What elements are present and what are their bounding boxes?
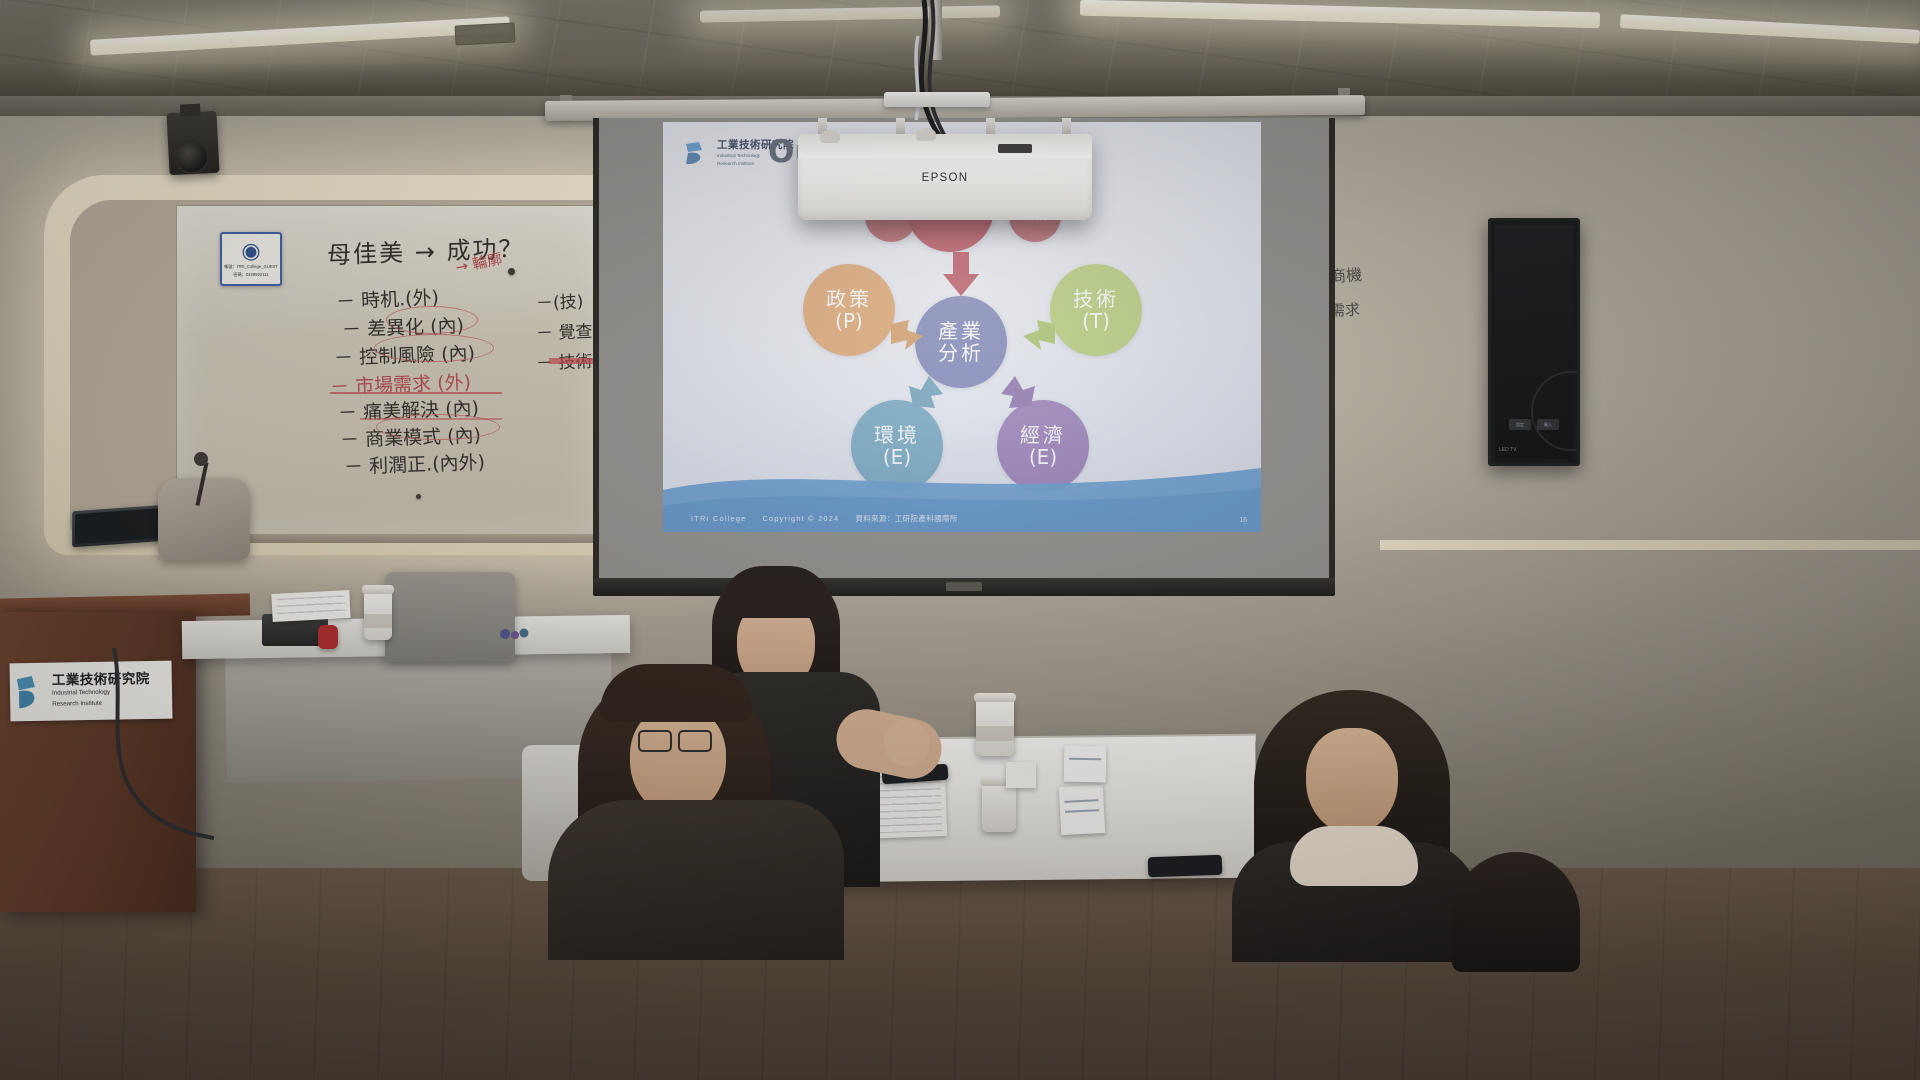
hoodie-collar <box>1290 826 1418 886</box>
wall-monitor[interactable]: 設定 輸入 LED TV <box>1488 218 1580 466</box>
smartphone-right[interactable] <box>1148 855 1223 878</box>
ceiling-vent <box>455 22 516 45</box>
arrow-left-icon <box>1021 318 1057 354</box>
chair-behind-side-table[interactable] <box>385 572 515 662</box>
speaker-cone-icon <box>174 139 210 175</box>
hair <box>1452 852 1580 972</box>
wifi-password: 密碼：0229922111 <box>233 272 268 278</box>
slide-footer-source: 資料來源：工研院產科國際所 <box>855 513 958 524</box>
classroom-scene: ◉ 帳號：ITRI_College_GUEST 密碼：0229922111 母佳… <box>0 0 1920 1080</box>
slide-bubble-political: 政策 (P) <box>803 264 895 356</box>
projector-top-shell <box>798 134 1092 158</box>
cup-lid <box>362 585 394 594</box>
projector-brand-label: EPSON <box>798 172 1092 184</box>
bubble-label-en: (T) <box>1082 310 1110 332</box>
face <box>1306 728 1398 834</box>
floor-planks <box>0 868 1920 1080</box>
microphone-head-icon <box>194 452 208 466</box>
coffee-cup-small <box>982 784 1016 832</box>
cup-sleeve <box>364 614 392 627</box>
projector-adjust-knob[interactable] <box>820 130 840 143</box>
monitor-label: LED TV <box>1499 447 1516 453</box>
slide-bubble-technological: 技術 (T) <box>1050 264 1142 356</box>
coffee-cup-side-table <box>364 592 392 640</box>
wall-light-strip <box>1380 540 1920 550</box>
hair-fringe <box>600 664 752 722</box>
keys-on-table <box>498 626 532 642</box>
wifi-ssid: 帳號：ITRI_College_GUEST <box>224 264 278 270</box>
arrow-up-right-icon <box>907 374 945 410</box>
slide-page-number: 16 <box>1239 517 1247 524</box>
projection-screen-bottom-bar <box>593 578 1335 596</box>
name-tent-card-2 <box>1064 746 1107 783</box>
tent-card-line <box>1065 799 1099 803</box>
projector-vent <box>998 144 1032 153</box>
itri-mark-icon <box>685 141 711 165</box>
bubble-label-line1: 產業 <box>938 320 984 342</box>
whiteboard-magnet <box>416 494 421 499</box>
laptop-screen <box>75 508 165 544</box>
wall-speaker <box>166 111 219 176</box>
bubble-label-line2: 分析 <box>938 342 984 364</box>
bubble-label-en: (P) <box>835 310 863 332</box>
whiteboard-circle-mark <box>386 306 478 334</box>
floor-cable <box>104 648 254 848</box>
bubble-label-cn: 經濟 <box>1020 424 1066 446</box>
paper-lines <box>277 595 346 617</box>
slide-footer: ITRI College Copyright © 2024 資料來源：工研院產科… <box>663 513 1261 524</box>
whiteboard-magnet <box>508 268 515 275</box>
arrow-down-icon <box>941 252 983 298</box>
coffee-cup-tall <box>976 700 1014 756</box>
presentation-clicker[interactable] <box>318 625 338 649</box>
whiteboard-column2-item: － 覺查 <box>536 317 593 344</box>
slide-footer-org: ITRI College <box>691 514 746 523</box>
speaker-mount <box>180 104 201 117</box>
whiteboard-underline <box>330 392 502 394</box>
itri-mark-icon <box>16 675 47 710</box>
bubble-label-cn: 環境 <box>874 424 920 446</box>
monitor-button-input[interactable]: 輸入 <box>1537 419 1559 430</box>
arrow-right-icon <box>891 318 927 354</box>
wifi-icon: ◉ <box>241 240 260 262</box>
hand <box>884 720 930 766</box>
small-note <box>1006 762 1036 788</box>
wifi-placard: ◉ 帳號：ITRI_College_GUEST 密碼：0229922111 <box>220 232 282 286</box>
laptop-on-podium[interactable] <box>72 505 168 548</box>
projector-adjust-knob[interactable] <box>916 128 936 141</box>
whiteboard-column2-item: －(技) <box>536 287 584 314</box>
monitor-osd-buttons[interactable]: 設定 輸入 <box>1497 419 1571 433</box>
ceiling-projector: EPSON <box>798 134 1092 220</box>
backpack <box>158 478 250 560</box>
name-tent-card-1 <box>1059 785 1105 835</box>
cup-lid <box>974 693 1016 702</box>
whiteboard-circle-mark <box>374 334 494 362</box>
papers-on-side-table <box>271 590 350 622</box>
floor <box>0 868 1920 1080</box>
monitor-button-settings[interactable]: 設定 <box>1509 419 1531 430</box>
whiteboard-item: － 利潤正.(內外) <box>344 448 486 480</box>
whiteboard-underline <box>360 418 502 420</box>
glasses-left-lens <box>638 730 672 752</box>
projector-ceiling-plate <box>884 92 990 107</box>
arrow-up-left-icon <box>999 374 1037 410</box>
bubble-label-cn: 技術 <box>1073 288 1119 310</box>
tent-card-line <box>1065 809 1099 813</box>
torso <box>548 800 844 960</box>
glasses-right-lens <box>678 730 712 752</box>
bubble-label-cn: 政策 <box>826 288 872 310</box>
tent-card-line <box>1069 758 1101 761</box>
slide-footer-copyright: Copyright © 2024 <box>762 514 839 523</box>
cup-sleeve <box>976 726 1014 742</box>
